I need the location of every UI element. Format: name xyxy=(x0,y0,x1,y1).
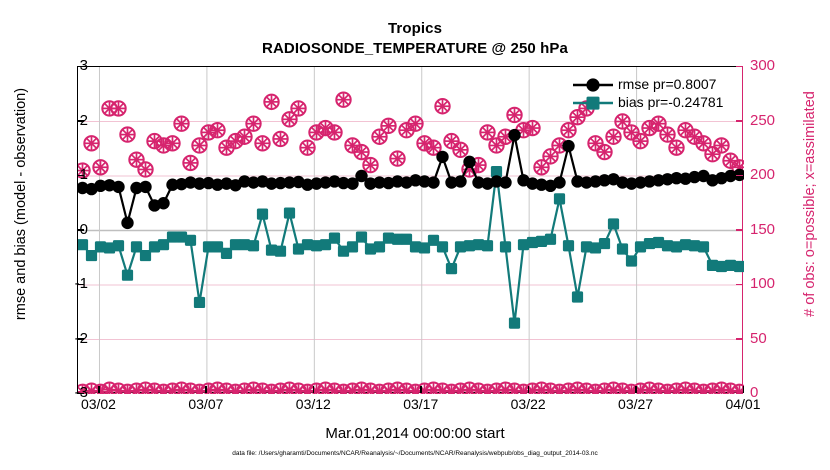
y-axis-right-tick: 100 xyxy=(750,275,810,292)
y-axis-left-tickmark xyxy=(77,284,84,286)
x-axis-tick: 03/02 xyxy=(58,396,138,412)
x-axis-tick: 03/12 xyxy=(273,396,353,412)
y-axis-left-tickmark xyxy=(77,338,84,340)
y-axis-right-tickmark xyxy=(736,66,743,68)
x-axis-tick: 03/07 xyxy=(166,396,246,412)
legend-item-rmse[interactable]: rmse pr=0.8007 xyxy=(572,76,752,94)
x-axis-tickmark xyxy=(743,386,745,393)
plot-area xyxy=(77,66,743,393)
y-axis-left-label: rmse and bias (model - observation) xyxy=(13,0,29,439)
data-layer xyxy=(78,67,744,394)
chart-title-main: Tropics xyxy=(0,20,830,37)
chart-legend: rmse pr=0.8007 bias pr=-0.24781 xyxy=(572,76,752,112)
y-axis-right-tickmark xyxy=(736,229,743,231)
x-axis-tickmark xyxy=(98,386,100,393)
y-axis-left-tickmark xyxy=(77,66,84,68)
y-axis-left-tickmark xyxy=(77,229,84,231)
y-axis-right-tick: 150 xyxy=(750,221,810,238)
chart-title-sub: RADIOSONDE_TEMPERATURE @ 250 hPa xyxy=(0,40,830,57)
y-axis-right-tickmark xyxy=(736,120,743,122)
y-axis-left-tickmark xyxy=(77,120,84,122)
x-axis-tickmark xyxy=(420,386,422,393)
y-axis-right-tickmark xyxy=(736,338,743,340)
y-axis-right-tick: 50 xyxy=(750,330,810,347)
x-axis-tickmark xyxy=(313,386,315,393)
legend-label-bias: bias pr=-0.24781 xyxy=(618,94,723,110)
y-axis-right-tickmark xyxy=(736,284,743,286)
x-axis-tickmark xyxy=(635,386,637,393)
x-axis-label: Mar.01,2014 00:00:00 start xyxy=(0,425,830,442)
data-file-footer: data file: /Users/gharamti/Documents/NCA… xyxy=(0,450,830,457)
y-axis-right-tick: 300 xyxy=(750,57,810,74)
circle-marker-icon xyxy=(572,77,614,93)
x-axis-tick: 04/01 xyxy=(703,396,783,412)
y-axis-right-tickmark xyxy=(736,175,743,177)
y-axis-right-tick: 250 xyxy=(750,112,810,129)
figure-canvas: Tropics RADIOSONDE_TEMPERATURE @ 250 hPa… xyxy=(0,0,830,470)
x-axis-tick: 03/22 xyxy=(488,396,568,412)
y-axis-left-tickmark xyxy=(77,175,84,177)
square-marker-icon xyxy=(572,95,614,111)
x-axis-tickmark xyxy=(205,386,207,393)
x-axis-tickmark xyxy=(528,386,530,393)
x-axis-tick: 03/27 xyxy=(596,396,676,412)
y-axis-right-tick: 200 xyxy=(750,166,810,183)
x-axis-tick: 03/17 xyxy=(381,396,461,412)
legend-item-bias[interactable]: bias pr=-0.24781 xyxy=(572,94,752,112)
y-axis-left-tickmark xyxy=(77,393,84,395)
legend-label-rmse: rmse pr=0.8007 xyxy=(618,76,716,92)
